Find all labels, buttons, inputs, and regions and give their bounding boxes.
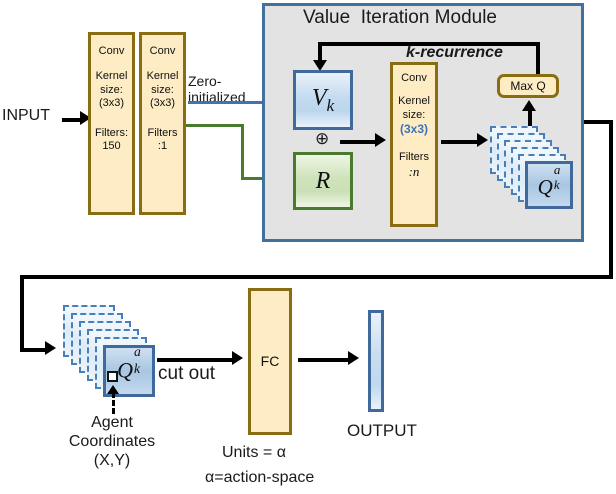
conv-block-1: Conv Kernel size: (3x3) Filters: 150 (88, 32, 135, 215)
vim-q-stack: Qak (490, 126, 575, 211)
conv1-kernel-value: (3x3) (99, 97, 124, 110)
reward-map-box: R (293, 152, 353, 210)
cutout-arrow-head (232, 351, 243, 365)
conv2-kernel-value: (3x3) (150, 97, 175, 110)
vim-sum-to-conv-shaft (340, 140, 378, 144)
vim-conv-name: Conv (401, 72, 427, 85)
conv1-filters-value: 150 (102, 140, 120, 153)
vim-conv-filters-label: Filters (399, 151, 429, 164)
reward-path-line-1 (186, 124, 243, 127)
decoder-q-stack: Qak (63, 305, 155, 397)
reward-path-line-2 (241, 124, 244, 179)
conv2-filters-value: :1 (158, 140, 167, 153)
vim-sum-to-conv-head (375, 133, 386, 147)
value-map-label: Vk (312, 85, 334, 116)
vim-q-label: Qak (538, 170, 561, 200)
cut-out-label: cut out (158, 364, 215, 384)
max-q-button[interactable]: Max Q (497, 74, 559, 98)
fully-connected-block: FC (248, 288, 292, 435)
vim-title: Value Iteration Module (303, 8, 497, 28)
vim-conv-filters-value: :n (409, 164, 420, 180)
fc-action-space-caption: α=action-space (205, 470, 314, 487)
vim-conv-to-q-head (477, 133, 488, 147)
figure-canvas: INPUT Conv Kernel size: (3x3) Filters: 1… (0, 0, 616, 494)
decoder-q-label: Qak (117, 353, 141, 384)
fc-label: FC (261, 353, 280, 370)
vim-conv-to-q-shaft (441, 140, 479, 144)
agent-coordinates-caption: Agent Coordinates (X,Y) (47, 414, 177, 471)
conv1-name: Conv (99, 45, 125, 58)
vim-conv-kernel-label: Kernel size: (398, 95, 430, 122)
max-q-label: Max Q (510, 79, 545, 93)
loop-line-bottom (20, 275, 612, 279)
fc-to-output-head (348, 351, 359, 365)
conv1-filters-label: Filters: (95, 127, 128, 140)
conv1-kernel-label: Kernel size: (96, 70, 128, 97)
vim-conv-block: Conv Kernel size: (3x3) Filters :n (390, 62, 438, 227)
cutout-arrow-shaft (157, 358, 235, 362)
input-label: INPUT (2, 108, 50, 125)
agent-position-marker-icon (107, 371, 118, 382)
input-arrow-shaft (62, 118, 82, 122)
value-map-box: Vk (293, 70, 353, 130)
reward-map-label: R (316, 168, 331, 195)
agent-coordinates-arrowhead (107, 385, 119, 394)
conv2-name: Conv (150, 45, 176, 58)
q-card-front: Qak (525, 161, 573, 209)
agent-coordinates-dashed-line (112, 392, 115, 414)
fc-units-caption: Units = α (222, 445, 286, 462)
output-vector-bar (368, 310, 384, 412)
vim-conv-kernel-value: (3x3) (400, 122, 428, 137)
conv-block-2: Conv Kernel size: (3x3) Filters :1 (139, 32, 186, 215)
loop-line-into-q (20, 348, 48, 352)
conv2-kernel-label: Kernel size: (147, 70, 179, 97)
output-label: OUTPUT (347, 422, 417, 440)
fc-to-output-shaft (298, 358, 351, 362)
elementwise-sum-icon: ⊕ (315, 130, 329, 148)
loop-line-left (20, 275, 24, 350)
q-to-maxq-head (522, 100, 536, 111)
k-recurrence-line-left (318, 42, 322, 62)
k-recurrence-label: k-recurrence (406, 45, 503, 62)
loop-arrowhead (45, 341, 56, 355)
k-recurrence-line-right (536, 42, 540, 75)
conv2-filters-label: Filters (148, 127, 178, 140)
loop-line-right (609, 120, 613, 279)
